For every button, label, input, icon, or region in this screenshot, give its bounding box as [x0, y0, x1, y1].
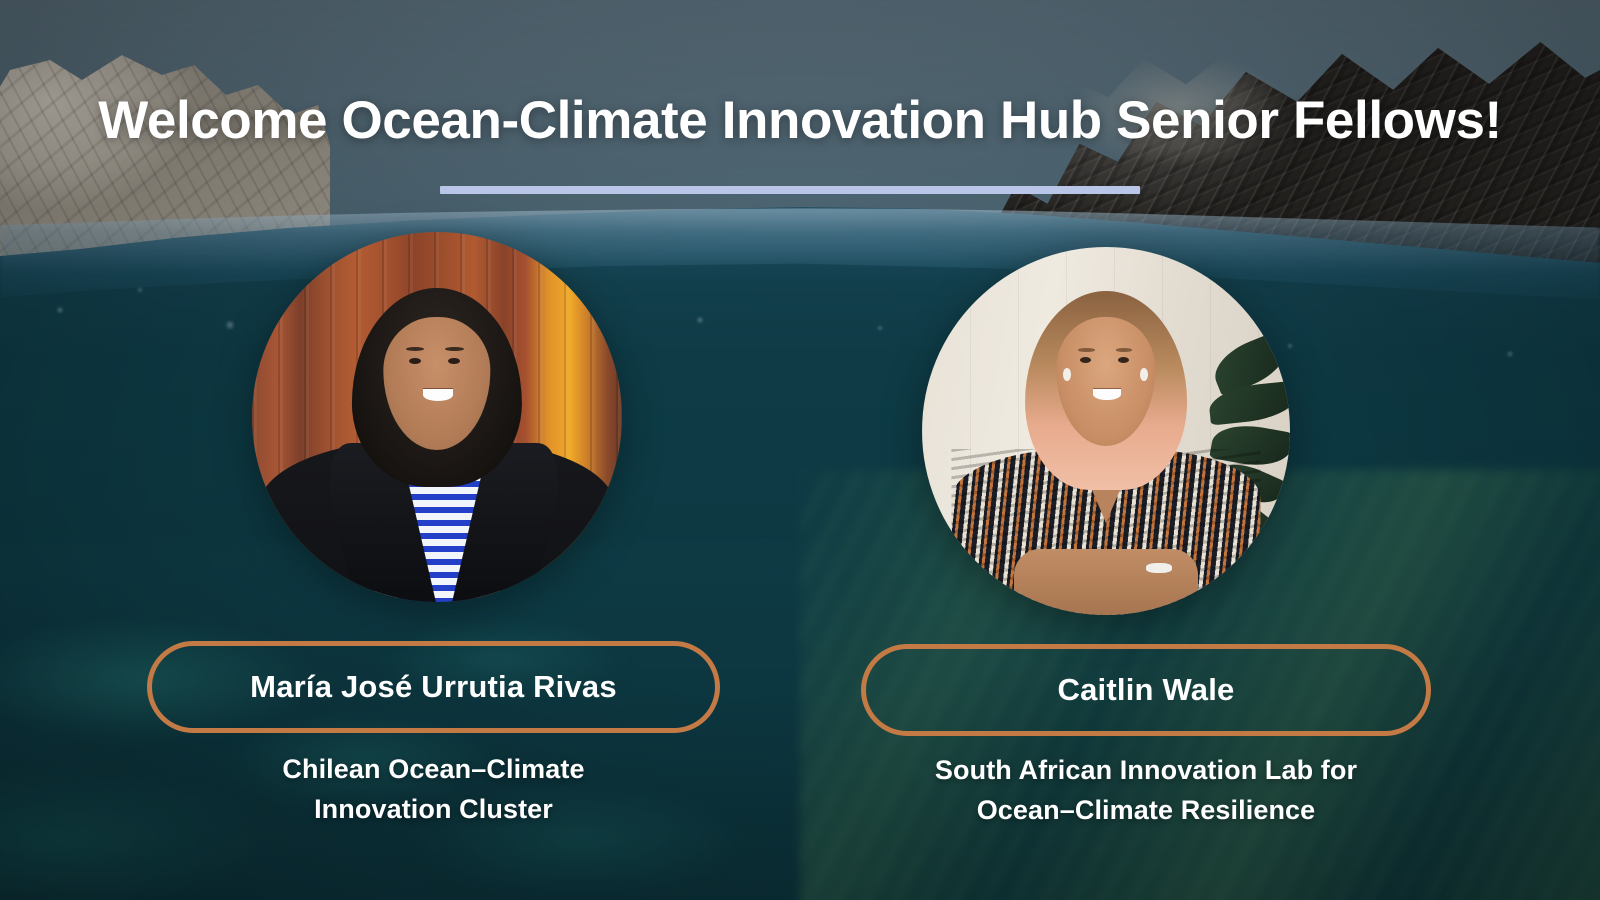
organization-line-1: South African Innovation Lab for [861, 751, 1431, 791]
eye-right [448, 358, 460, 364]
avatar-fellow-2 [922, 247, 1290, 615]
smile [1093, 389, 1120, 400]
crossed-arms [1014, 549, 1198, 615]
bracelet [1146, 563, 1172, 573]
page-title: Welcome Ocean-Climate Innovation Hub Sen… [0, 94, 1600, 147]
organization-line-1: Chilean Ocean–Climate [147, 750, 720, 790]
announcement-graphic: Welcome Ocean-Climate Innovation Hub Sen… [0, 0, 1600, 900]
organization-fellow-2: South African Innovation Lab for Ocean–C… [861, 751, 1431, 831]
eyebrow-left [1078, 348, 1095, 352]
name-label-fellow-1: María José Urrutia Rivas [250, 669, 617, 705]
eyebrow-left [406, 347, 425, 351]
title-divider [440, 186, 1140, 194]
organization-fellow-1: Chilean Ocean–Climate Innovation Cluster [147, 750, 720, 830]
eyebrow-right [1116, 348, 1133, 352]
name-badge-fellow-1: María José Urrutia Rivas [147, 641, 720, 733]
organization-line-2: Innovation Cluster [147, 790, 720, 830]
name-badge-fellow-2: Caitlin Wale [861, 644, 1431, 736]
earring-right [1140, 368, 1148, 381]
avatar-fellow-1 [252, 232, 622, 602]
name-label-fellow-2: Caitlin Wale [1058, 672, 1235, 708]
organization-line-2: Ocean–Climate Resilience [861, 791, 1431, 831]
eye-left [409, 358, 421, 364]
smile [423, 389, 453, 401]
eyebrow-right [445, 347, 464, 351]
